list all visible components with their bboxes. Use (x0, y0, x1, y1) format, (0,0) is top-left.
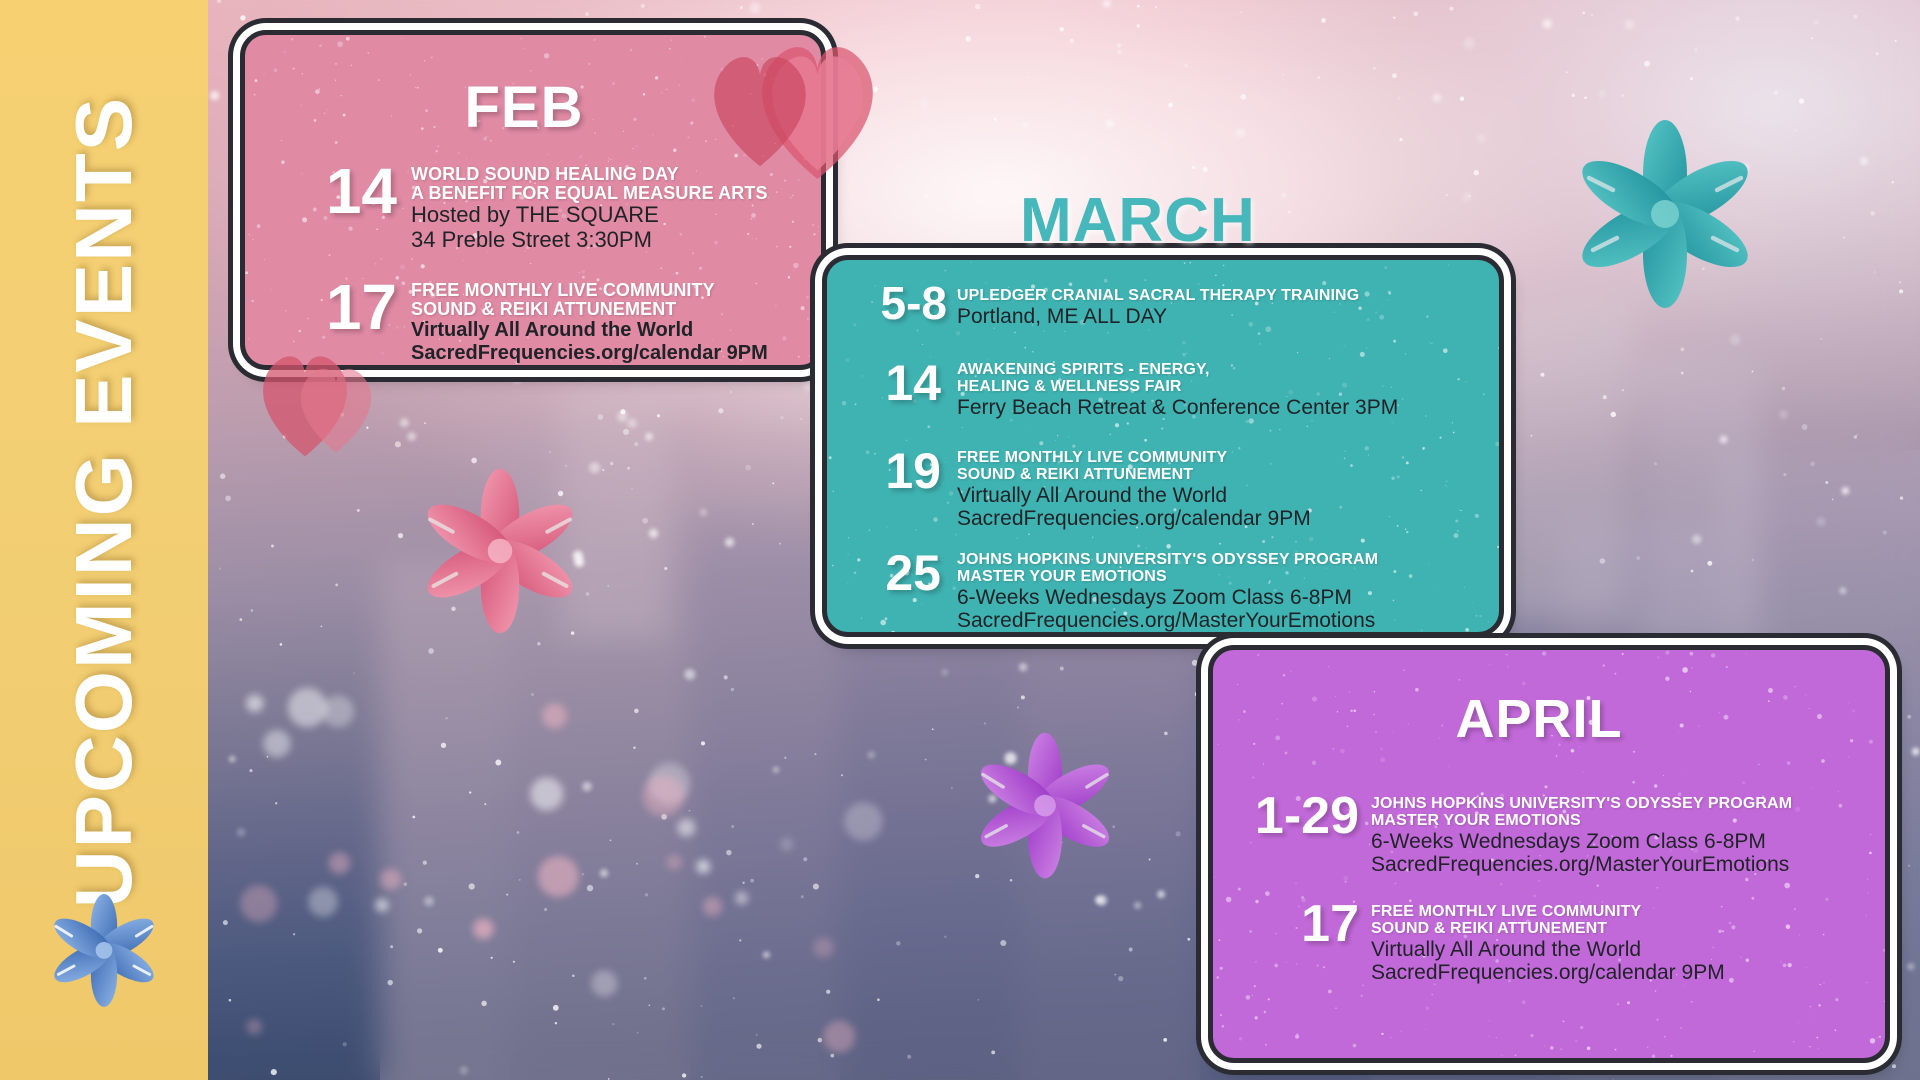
event-title-line: SOUND & REIKI ATTUNEMENT (1371, 921, 1883, 938)
event-title-line: UPLEDGER CRANIAL SACRAL THERAPY TRAINING (957, 288, 1489, 305)
event-row[interactable]: 17 FREE MONTHLY LIVE COMMUNITY SOUND & R… (289, 277, 819, 364)
event-detail-line: Hosted by THE SQUARE (411, 203, 819, 228)
teal-flower-icon (1560, 110, 1770, 310)
event-detail-line: SacredFrequencies.org/calendar 9PM (411, 342, 819, 364)
event-row[interactable]: 19 FREE MONTHLY LIVE COMMUNITY SOUND & R… (849, 448, 1489, 531)
event-title-line: SOUND & REIKI ATTUNEMENT (411, 300, 819, 319)
month-label-april: APRIL (1213, 692, 1865, 746)
event-text: FREE MONTHLY LIVE COMMUNITY SOUND & REIK… (1371, 900, 1883, 985)
event-detail-line: 6-Weeks Wednesdays Zoom Class 6-8PM (957, 586, 1489, 610)
pink-heart-icon (700, 40, 820, 175)
event-detail-line: SacredFrequencies.org/MasterYourEmotions (957, 609, 1489, 633)
month-card-april[interactable]: APRIL 1-29 JOHNS HOPKINS UNIVERSITY'S OD… (1208, 645, 1890, 1063)
event-day: 19 (849, 448, 941, 496)
event-day: 14 (849, 360, 941, 408)
event-title-line: FREE MONTHLY LIVE COMMUNITY (1371, 904, 1883, 921)
event-title-line: AWAKENING SPIRITS - ENERGY, (957, 362, 1489, 379)
event-text: FREE MONTHLY LIVE COMMUNITY SOUND & REIK… (957, 448, 1489, 531)
event-detail-line: Virtually All Around the World (1371, 938, 1883, 962)
event-text: JOHNS HOPKINS UNIVERSITY'S ODYSSEY PROGR… (957, 550, 1489, 633)
event-row[interactable]: 14 AWAKENING SPIRITS - ENERGY, HEALING &… (849, 360, 1489, 419)
event-detail-line: Ferry Beach Retreat & Conference Center … (957, 396, 1489, 420)
event-title-line: MASTER YOUR EMOTIONS (957, 569, 1489, 586)
event-detail-line: Portland, ME ALL DAY (957, 305, 1489, 329)
event-detail-line: 6-Weeks Wednesdays Zoom Class 6-8PM (1371, 830, 1883, 854)
event-row[interactable]: 1-29 JOHNS HOPKINS UNIVERSITY'S ODYSSEY … (1233, 792, 1883, 877)
event-day: 17 (1233, 900, 1359, 949)
event-title-line: JOHNS HOPKINS UNIVERSITY'S ODYSSEY PROGR… (957, 552, 1489, 569)
event-title-line: FREE MONTHLY LIVE COMMUNITY (411, 281, 819, 300)
pink-heart-icon (290, 355, 382, 460)
event-row[interactable]: 17 FREE MONTHLY LIVE COMMUNITY SOUND & R… (1233, 900, 1883, 985)
sidebar: UPCOMING EVENTS (0, 0, 208, 1080)
event-title-line: SOUND & REIKI ATTUNEMENT (957, 467, 1489, 484)
event-day: 1-29 (1233, 792, 1359, 841)
event-detail-line: 34 Preble Street 3:30PM (411, 228, 819, 253)
blue-flower-logo-icon (44, 888, 164, 1008)
event-detail-line: Virtually All Around the World (957, 484, 1489, 508)
month-card-march[interactable]: 5-8 UPLEDGER CRANIAL SACRAL THERAPY TRAI… (822, 255, 1504, 637)
event-day: 17 (289, 277, 397, 338)
event-row[interactable]: 25 JOHNS HOPKINS UNIVERSITY'S ODYSSEY PR… (849, 550, 1489, 633)
event-text: JOHNS HOPKINS UNIVERSITY'S ODYSSEY PROGR… (1371, 792, 1883, 877)
event-row[interactable]: 5-8 UPLEDGER CRANIAL SACRAL THERAPY TRAI… (849, 282, 1489, 328)
event-day: 5-8 (849, 282, 947, 326)
pink-flower-icon (410, 460, 590, 635)
event-text: AWAKENING SPIRITS - ENERGY, HEALING & WE… (957, 360, 1489, 419)
event-detail-line: SacredFrequencies.org/calendar 9PM (1371, 961, 1883, 985)
event-day: 14 (289, 161, 397, 222)
month-label-march: MARCH (1020, 185, 1256, 256)
event-title-line: HEALING & WELLNESS FAIR (957, 379, 1489, 396)
purple-flower-icon (965, 725, 1125, 880)
event-text: UPLEDGER CRANIAL SACRAL THERAPY TRAINING… (957, 282, 1489, 328)
event-title-line: FREE MONTHLY LIVE COMMUNITY (957, 450, 1489, 467)
event-detail-line: SacredFrequencies.org/MasterYourEmotions (1371, 853, 1883, 877)
page-title: UPCOMING EVENTS (58, 96, 150, 908)
event-text: FREE MONTHLY LIVE COMMUNITY SOUND & REIK… (411, 277, 819, 364)
event-detail-line: SacredFrequencies.org/calendar 9PM (957, 507, 1489, 531)
event-day: 25 (849, 550, 941, 598)
event-title-line: MASTER YOUR EMOTIONS (1371, 813, 1883, 830)
event-detail-line: Virtually All Around the World (411, 319, 819, 341)
event-title-line: JOHNS HOPKINS UNIVERSITY'S ODYSSEY PROGR… (1371, 796, 1883, 813)
